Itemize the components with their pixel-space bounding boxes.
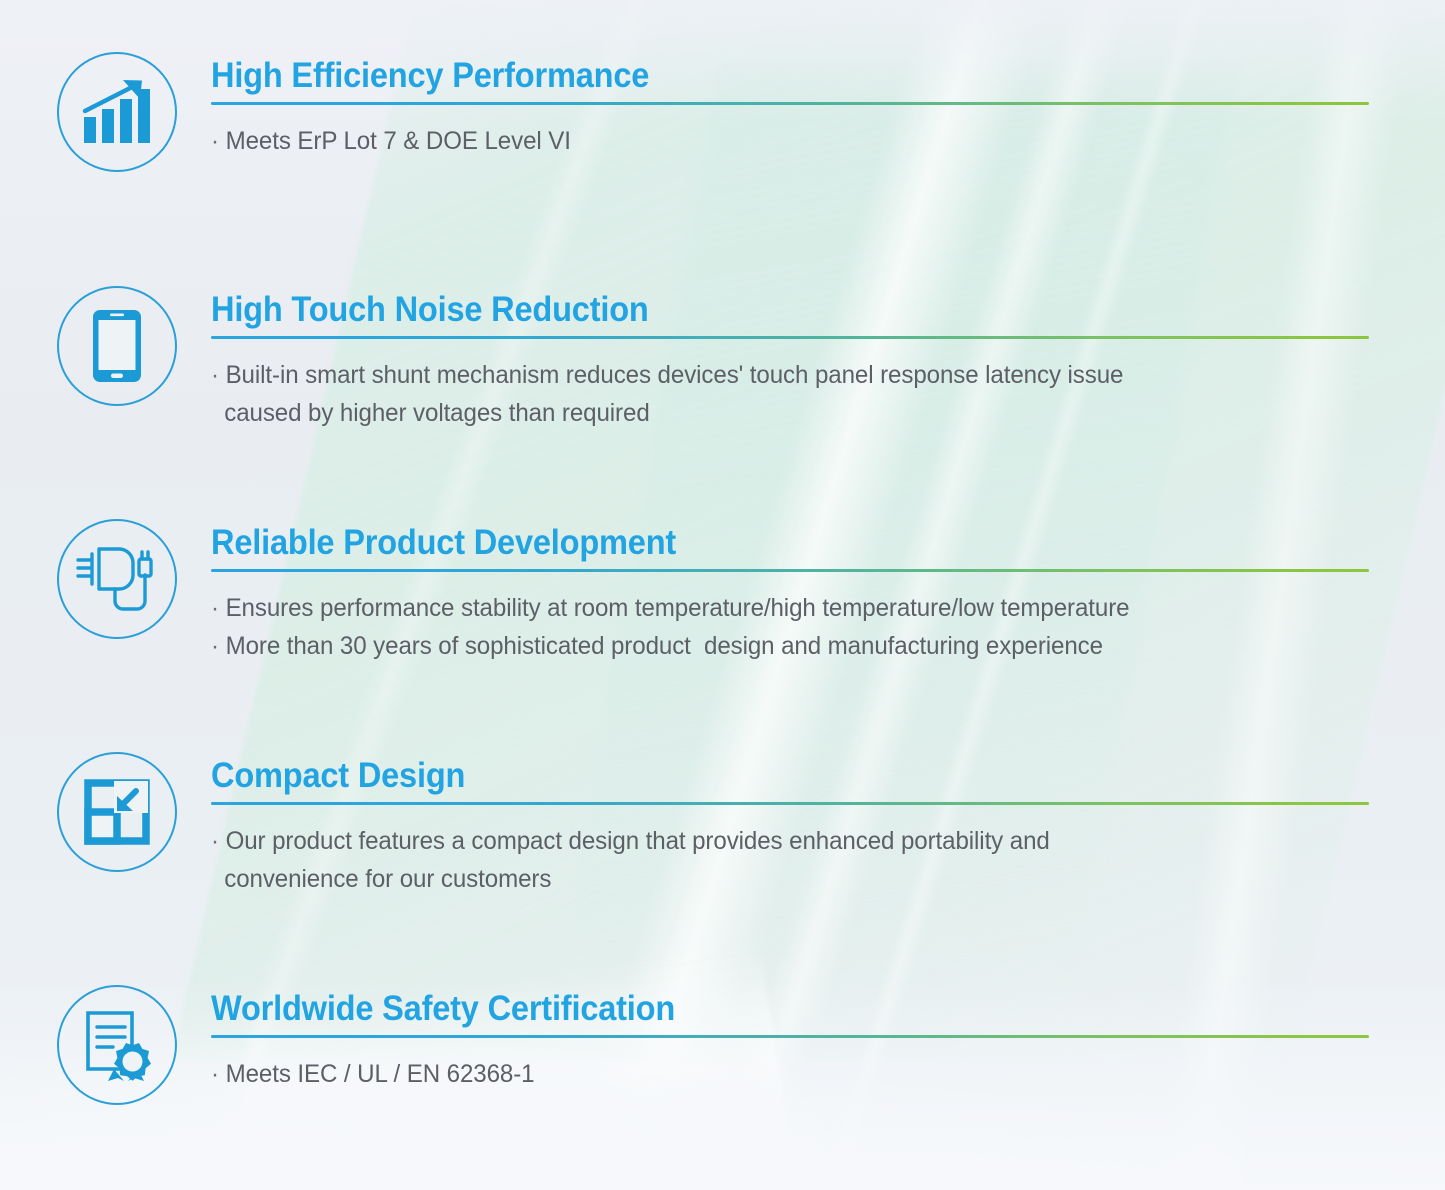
bullet-item: · Built-in smart shunt mechanism reduces… — [211, 356, 1328, 432]
feature-content: Worldwide Safety Certification · Meets I… — [211, 989, 1369, 1093]
bullet-item: · Meets ErP Lot 7 & DOE Level VI — [211, 122, 1328, 160]
feature-divider — [211, 569, 1369, 572]
bullet-item: · More than 30 years of sophisticated pr… — [211, 627, 1328, 665]
feature-title: Reliable Product Development — [211, 523, 1288, 563]
feature-bullets: · Meets IEC / UL / EN 62368-1 — [211, 1055, 1369, 1093]
feature-bullets: · Our product features a compact design … — [211, 822, 1369, 898]
feature-bullets: · Meets ErP Lot 7 & DOE Level VI — [211, 122, 1369, 160]
feature-title: Compact Design — [211, 756, 1288, 796]
feature-title: High Touch Noise Reduction — [211, 290, 1288, 330]
feature-highlights-page: High Efficiency Performance · Meets ErP … — [0, 0, 1445, 1190]
bullet-item: · Our product features a compact design … — [211, 822, 1328, 898]
bullet-item: · Meets IEC / UL / EN 62368-1 — [211, 1055, 1328, 1093]
feature-divider — [211, 102, 1369, 105]
feature-bullets: · Built-in smart shunt mechanism reduces… — [211, 356, 1369, 432]
background-bottom-fan — [55, 1094, 824, 1190]
feature-content: Reliable Product Development · Ensures p… — [211, 523, 1369, 665]
feature-content: Compact Design · Our product features a … — [211, 756, 1369, 898]
feature-content: High Efficiency Performance · Meets ErP … — [211, 56, 1369, 160]
bullet-item: · Ensures performance stability at room … — [211, 589, 1328, 627]
feature-title: High Efficiency Performance — [211, 56, 1288, 96]
compact-resize-icon — [57, 752, 177, 872]
feature-divider — [211, 336, 1369, 339]
feature-divider — [211, 802, 1369, 805]
feature-title: Worldwide Safety Certification — [211, 989, 1288, 1029]
certificate-seal-icon — [57, 985, 177, 1105]
power-adapter-icon — [57, 519, 177, 639]
smartphone-icon — [57, 286, 177, 406]
feature-content: High Touch Noise Reduction · Built-in sm… — [211, 290, 1369, 432]
bar-chart-growth-icon — [57, 52, 177, 172]
feature-divider — [211, 1035, 1369, 1038]
feature-bullets: · Ensures performance stability at room … — [211, 589, 1369, 665]
